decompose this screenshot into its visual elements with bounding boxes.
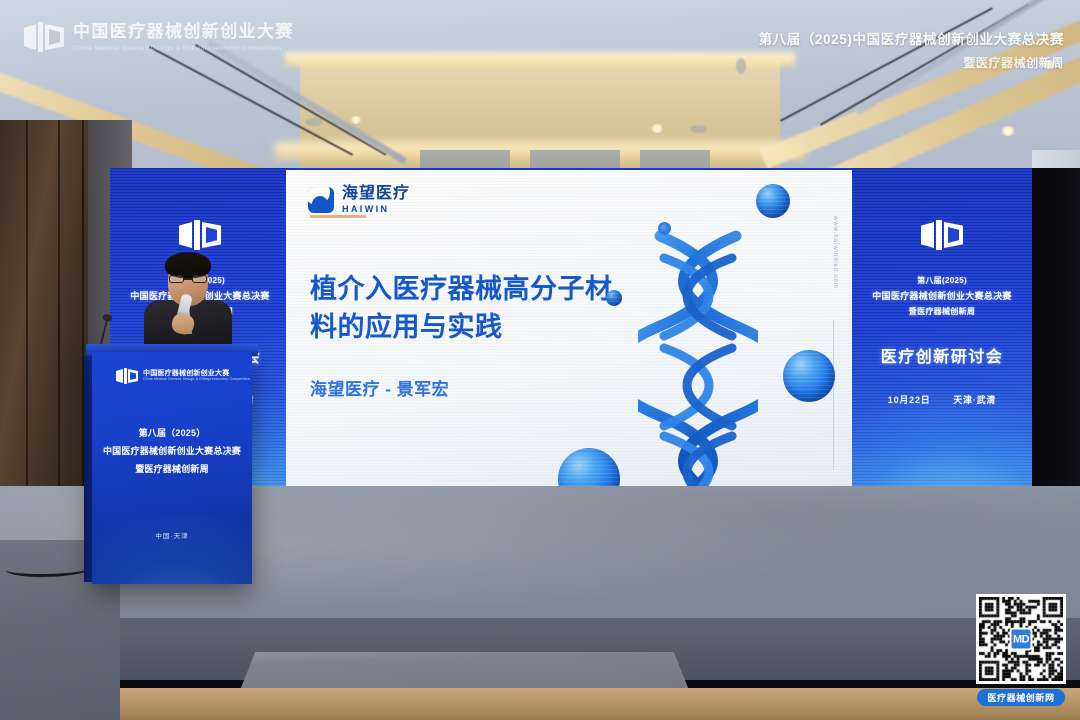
led-banner-right: 第八届(2025) 中国医疗器械创新创业大赛总决赛 暨医疗器械创新周 医疗创新研… — [852, 168, 1032, 508]
conference-stage-screenshot: 第八届(2025) 中国医疗器械创新创业大赛总决赛 暨医疗器械创新周 医疗创新研… — [0, 0, 1080, 720]
haiwin-wave-logo-icon — [308, 187, 334, 213]
ceiling-downlight — [350, 116, 362, 124]
haiwin-brand-en: HAIWIN — [342, 205, 410, 214]
podium-line2: 中国医疗器械创新创业大赛总决赛 — [92, 442, 252, 460]
qr-code-block[interactable]: MD 医疗器械创新网 — [973, 594, 1069, 706]
decorative-sphere — [606, 290, 622, 306]
podium-event-text: 第八届（2025） 中国医疗器械创新创业大赛总决赛 暨医疗器械创新周 — [92, 424, 252, 478]
decorative-sphere — [783, 350, 835, 402]
venue-floor — [0, 688, 1080, 720]
watermark-title-en: China Medical Devices Design & Entrepren… — [73, 45, 294, 53]
qr-code-label: 医疗器械创新网 — [977, 689, 1065, 706]
competition-book-mark-icon — [921, 220, 963, 250]
slide-website-note: www.haiwinmed.com — [832, 216, 838, 289]
led-banner-right-subtitle: 第八届(2025) 中国医疗器械创新创业大赛总决赛 暨医疗器械创新周 — [872, 274, 1012, 319]
watermark-top-left-text: 中国医疗器械创新创业大赛 China Medical Devices Desig… — [73, 22, 294, 52]
dna-double-helix-icon — [638, 218, 758, 506]
led-banner-right-title: 医疗创新研讨会 — [881, 343, 1004, 367]
podium-logo-en: China Medical Devices Design & Entrepren… — [143, 378, 250, 382]
haiwin-logo-text: 海望医疗 HAIWIN — [342, 186, 410, 214]
watermark-title-cn: 中国医疗器械创新创业大赛 — [73, 22, 294, 42]
banner-sub-line3: 暨医疗器械创新周 — [872, 305, 1012, 319]
haiwin-logo: 海望医疗 HAIWIN — [308, 186, 410, 214]
dna-helix-tube-end — [658, 222, 671, 235]
podium-logo-text: 中国医疗器械创新创业大赛 China Medical Devices Desig… — [143, 370, 250, 382]
decorative-sphere — [756, 184, 790, 218]
presentation-slide: 海望医疗 HAIWIN 植介入医疗器械高分子材料的应用与实践 海望医疗 - 景军… — [286, 170, 852, 506]
ceiling-vent-slot — [640, 150, 710, 168]
competition-book-mark-icon — [179, 220, 221, 250]
competition-book-mark-icon — [116, 368, 138, 384]
qr-center-logo: MD — [1010, 628, 1033, 651]
podium-location: 中国·天津 — [92, 530, 252, 540]
watermark-event-line1: 第八届（2025)中国医疗器械创新创业大赛总决赛 — [759, 28, 1064, 48]
qr-code-icon[interactable]: MD — [976, 594, 1066, 684]
banner-sub-line2: 中国医疗器械创新创业大赛总决赛 — [872, 288, 1012, 304]
podium-light-swoosh — [92, 514, 252, 584]
slide-title: 植介入医疗器械高分子材料的应用与实践 — [310, 270, 630, 347]
ceiling-vent-slot — [530, 150, 620, 168]
wall-panel-seam — [26, 120, 28, 540]
speaker-glasses — [169, 275, 207, 283]
podium-line1: 第八届（2025） — [92, 424, 252, 442]
wall-panel-seam — [58, 120, 60, 540]
podium-front-panel: 中国医疗器械创新创业大赛 China Medical Devices Desig… — [92, 352, 252, 584]
ceiling-speaker-vent — [305, 118, 323, 126]
haiwin-logo-underline — [310, 215, 366, 218]
ceiling-downlight — [1000, 126, 1016, 136]
led-banner-right-date-row: 10月22日 天津·武清 — [888, 393, 996, 406]
podium-line3: 暨医疗器械创新周 — [92, 460, 252, 478]
watermark-event-line2: 暨医疗器械创新周 — [759, 54, 1064, 71]
podium-logo-cn: 中国医疗器械创新创业大赛 — [143, 370, 250, 378]
ceiling-cove-light-top — [285, 52, 795, 66]
banner-date: 10月22日 — [888, 395, 931, 405]
ceiling-vent-slot — [420, 150, 510, 168]
watermark-top-left: 中国医疗器械创新创业大赛 China Medical Devices Desig… — [24, 22, 294, 52]
slide-subtitle: 海望医疗 - 景军宏 — [310, 375, 449, 400]
haiwin-brand-cn: 海望医疗 — [342, 186, 410, 202]
slide-divider-line — [833, 320, 834, 470]
ceiling-speaker-vent — [690, 125, 707, 133]
competition-book-mark-icon — [24, 22, 64, 52]
podium-competition-logo: 中国医疗器械创新创业大赛 China Medical Devices Desig… — [116, 368, 250, 384]
led-banner-right-content: 第八届(2025) 中国医疗器械创新创业大赛总决赛 暨医疗器械创新周 医疗创新研… — [852, 168, 1032, 508]
ceiling-downlight — [650, 124, 664, 133]
ceiling-sensor — [736, 58, 746, 74]
banner-location: 天津·武清 — [953, 395, 996, 405]
banner-sub-line1: 第八届(2025) — [872, 274, 1012, 288]
watermark-top-right: 第八届（2025)中国医疗器械创新创业大赛总决赛 暨医疗器械创新周 — [759, 28, 1064, 71]
